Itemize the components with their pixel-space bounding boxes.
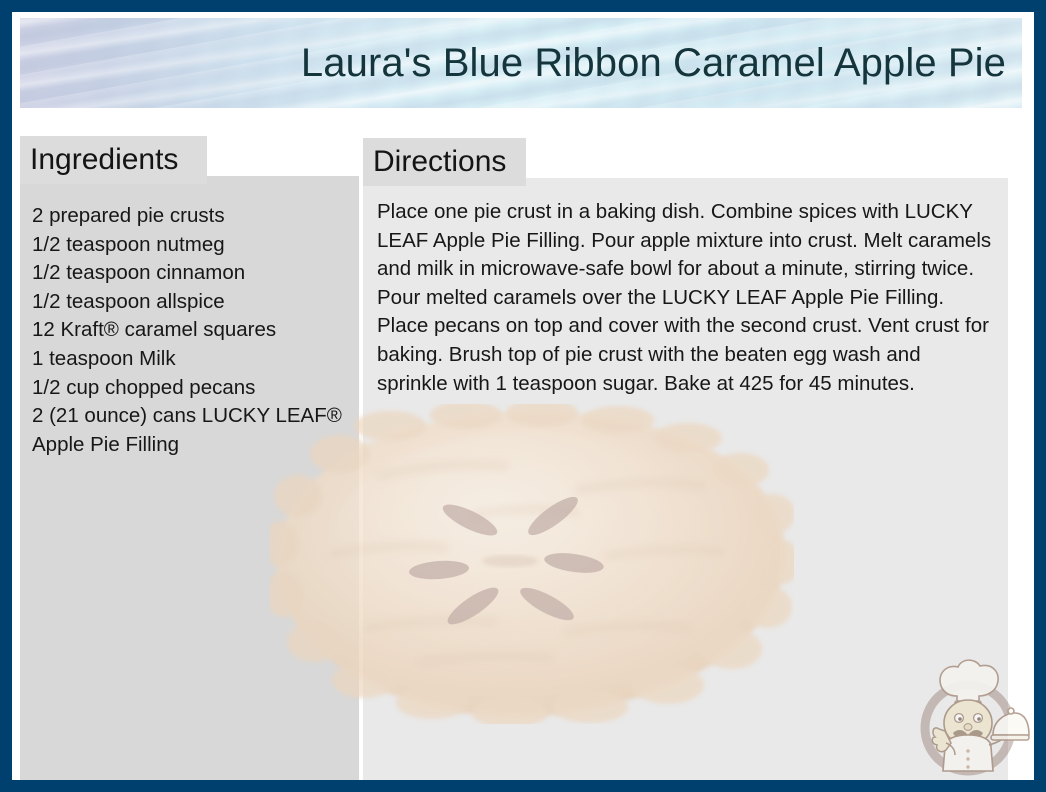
list-item: 1/2 teaspoon nutmeg <box>32 231 355 260</box>
list-item: 12 Kraft® caramel squares <box>32 316 355 345</box>
card-inner-surface: Laura's Blue Ribbon Caramel Apple Pie 2 … <box>12 12 1034 780</box>
list-item: 1/2 cup chopped pecans <box>32 374 355 403</box>
directions-panel: Place one pie crust in a baking dish. Co… <box>363 178 1008 780</box>
directions-text: Place one pie crust in a baking dish. Co… <box>377 198 993 398</box>
title-banner: Laura's Blue Ribbon Caramel Apple Pie <box>20 18 1022 108</box>
recipe-card: Laura's Blue Ribbon Caramel Apple Pie 2 … <box>0 0 1046 792</box>
list-item: 2 prepared pie crusts <box>32 202 355 231</box>
directions-heading: Directions <box>363 138 526 186</box>
ingredients-panel: 2 prepared pie crusts 1/2 teaspoon nutme… <box>20 176 359 780</box>
list-item: 2 (21 ounce) cans LUCKY LEAF® <box>32 402 355 431</box>
list-item: 1/2 teaspoon allspice <box>32 288 355 317</box>
ingredients-list: 2 prepared pie crusts 1/2 teaspoon nutme… <box>32 202 355 459</box>
ingredients-heading: Ingredients <box>20 136 207 184</box>
list-item: Apple Pie Filling <box>32 431 355 460</box>
list-item: 1 teaspoon Milk <box>32 345 355 374</box>
list-item: 1/2 teaspoon cinnamon <box>32 259 355 288</box>
page-title: Laura's Blue Ribbon Caramel Apple Pie <box>20 18 1022 108</box>
